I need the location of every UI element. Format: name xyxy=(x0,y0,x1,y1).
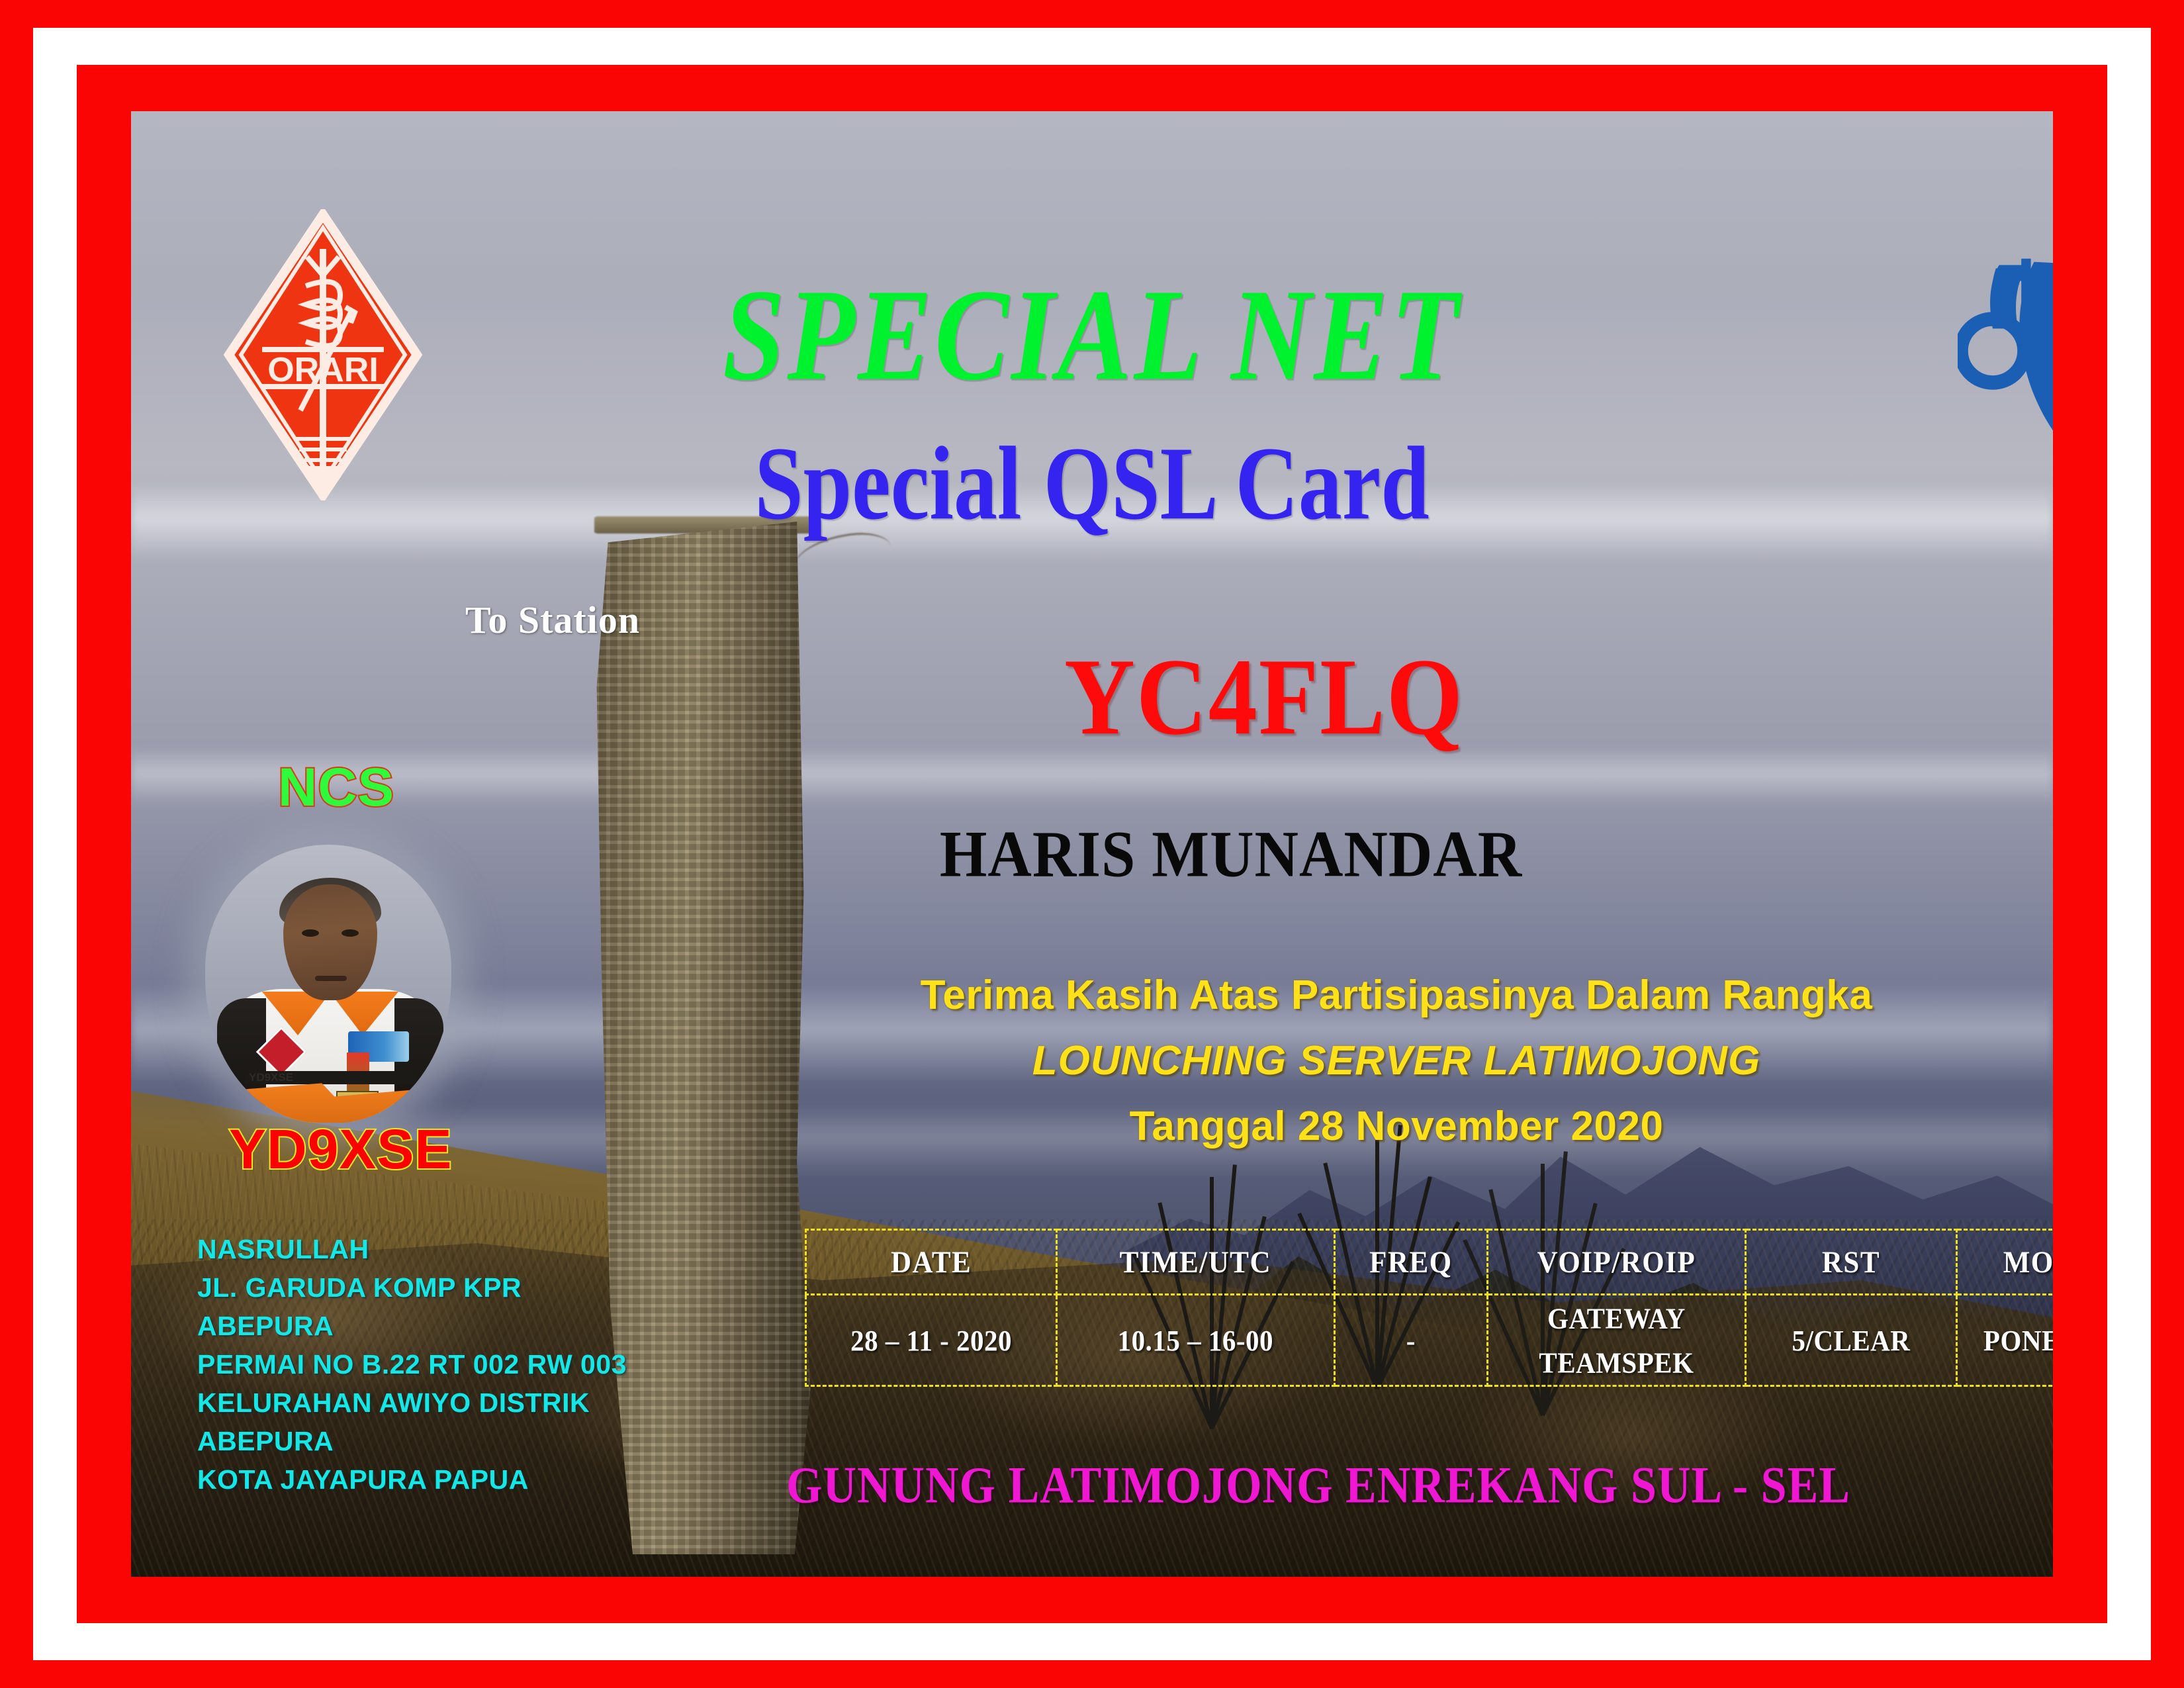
page-title: SPECIAL NET xyxy=(131,260,2053,411)
cell-voip-line2: TEAMSPEK xyxy=(1488,1340,1745,1385)
ncs-label: NCS xyxy=(278,757,394,819)
qsl-card-photo-area: ORARI xyxy=(131,111,2053,1577)
to-station-label: To Station xyxy=(465,598,640,642)
table-header-mode: MODE xyxy=(1957,1227,2053,1297)
thanks-line-2: LOUNCHING SERVER LATIMOJONG xyxy=(833,1037,1960,1084)
thanks-line-3: Tanggal 28 November 2020 xyxy=(833,1103,1960,1150)
table-header-voip: VOIP/ROIP xyxy=(1488,1227,1746,1297)
station-callsign: YC4FLQ xyxy=(1064,634,1464,760)
address-block: NASRULLAH JL. GARUDA KOMP KPR ABEPURA PE… xyxy=(197,1230,627,1499)
address-line: ABEPURA xyxy=(197,1307,627,1345)
cell-date: 28 – 11 - 2020 xyxy=(806,1291,1057,1389)
qso-log-table: DATE TIME/UTC FREQ VOIP/ROIP RST MODE 28… xyxy=(805,1229,2053,1387)
address-line: ABEPURA xyxy=(197,1422,627,1460)
cell-freq: - xyxy=(1334,1291,1488,1389)
photo-eye-right xyxy=(341,929,359,937)
cell-voip-line1: GATEWAY xyxy=(1488,1296,1745,1340)
photo-eye-left xyxy=(302,929,319,937)
thanks-block: Terima Kasih Atas Partisipasinya Dalam R… xyxy=(833,972,1960,1150)
cell-rst: 5/CLEAR xyxy=(1745,1291,1957,1389)
operator-name: HARIS MUNANDAR xyxy=(131,816,2053,892)
table-header-freq: FREQ xyxy=(1334,1227,1488,1297)
table-header-date: DATE xyxy=(806,1227,1057,1297)
address-line: JL. GARUDA KOMP KPR xyxy=(197,1268,627,1307)
address-line: KELURAHAN AWIYO DISTRIK xyxy=(197,1383,627,1422)
photo-shirt-callsign: YD9XSE xyxy=(249,1071,293,1084)
page-subtitle: Special QSL Card xyxy=(131,422,2053,544)
ncs-operator-photo: YD9XSE xyxy=(205,845,451,1123)
address-line: PERMAI NO B.22 RT 002 RW 003 xyxy=(197,1345,627,1383)
table-row: 28 – 11 - 2020 10.15 – 16-00 - GATEWAY T… xyxy=(806,1295,2054,1386)
table-header-rst: RST xyxy=(1745,1227,1957,1297)
cell-mode: PONE/CW xyxy=(1957,1291,2053,1389)
thanks-line-1: Terima Kasih Atas Partisipasinya Dalam R… xyxy=(833,972,1960,1019)
cell-time: 10.15 – 16-00 xyxy=(1057,1291,1334,1389)
photo-mouth xyxy=(315,976,347,981)
cell-voip: GATEWAY TEAMSPEK xyxy=(1488,1291,1746,1389)
qsl-card-inner-red-border: ORARI xyxy=(77,65,2107,1623)
photo-face xyxy=(283,884,377,1000)
table-header-time: TIME/UTC xyxy=(1057,1227,1334,1297)
location-label: GUNUNG LATIMOJONG ENREKANG SUL - SEL xyxy=(786,1456,1850,1516)
address-line: NASRULLAH xyxy=(197,1230,627,1268)
address-line: KOTA JAYAPURA PAPUA xyxy=(197,1460,627,1499)
qsl-card-white-border: ORARI xyxy=(33,28,2151,1660)
ncs-callsign: YD9XSE xyxy=(229,1117,453,1182)
table-header-row: DATE TIME/UTC FREQ VOIP/ROIP RST MODE xyxy=(806,1230,2054,1295)
qsl-card-outer-border: ORARI xyxy=(0,0,2184,1688)
